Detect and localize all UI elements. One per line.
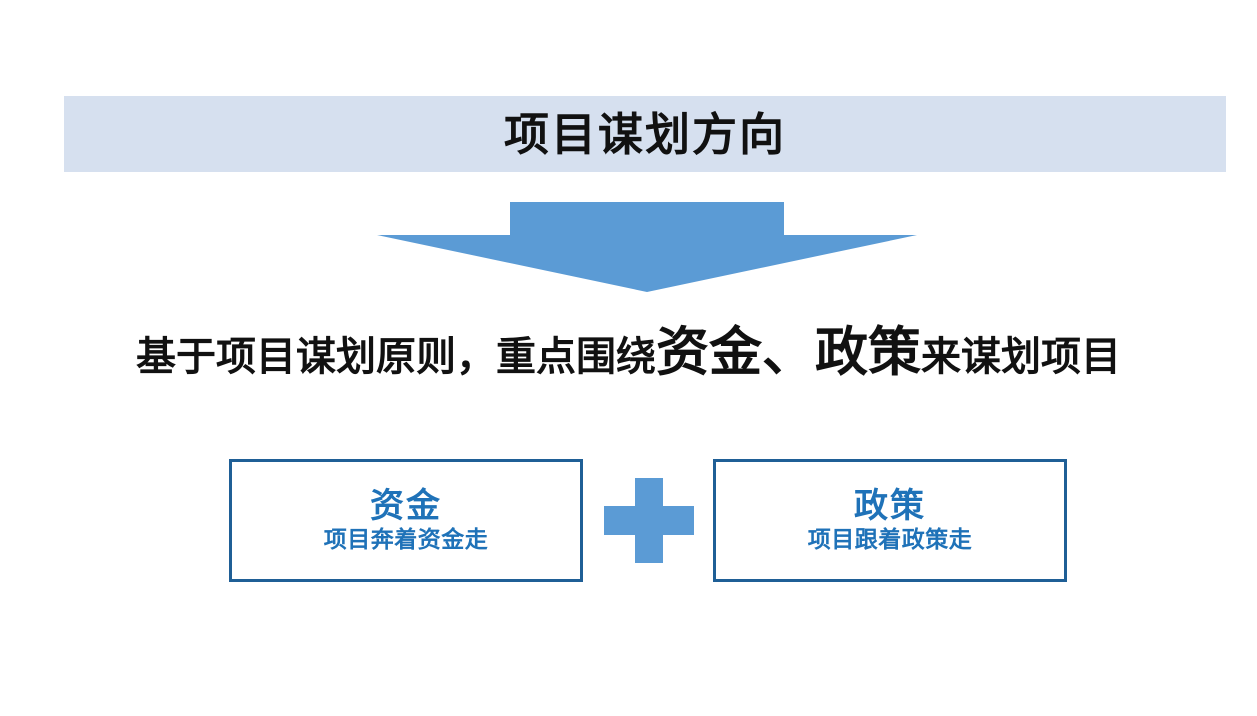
slide-canvas: 项目谋划方向 基于项目谋划原则，重点围绕资金、政策来谋划项目 资金 项目奔着资金… bbox=[0, 0, 1257, 716]
concept-box-subtitle: 项目奔着资金走 bbox=[324, 527, 489, 552]
plus-icon bbox=[604, 478, 694, 563]
headline-sentence: 基于项目谋划原则，重点围绕资金、政策来谋划项目 bbox=[0, 326, 1257, 379]
headline-segment-emphasis: 资金、政策 bbox=[656, 323, 921, 382]
headline-segment-lead: 基于项目谋划原则，重点围绕 bbox=[136, 335, 656, 379]
concept-box-funding[interactable]: 资金 项目奔着资金走 bbox=[229, 459, 583, 582]
concept-box-title: 政策 bbox=[854, 489, 926, 525]
concept-box-policy[interactable]: 政策 项目跟着政策走 bbox=[713, 459, 1067, 582]
page-title: 项目谋划方向 bbox=[504, 112, 786, 157]
down-arrow-icon bbox=[377, 202, 917, 292]
concept-box-subtitle: 项目跟着政策走 bbox=[808, 527, 973, 552]
title-banner: 项目谋划方向 bbox=[64, 96, 1226, 172]
concept-box-title: 资金 bbox=[370, 489, 442, 525]
headline-segment-tail: 来谋划项目 bbox=[921, 335, 1121, 379]
